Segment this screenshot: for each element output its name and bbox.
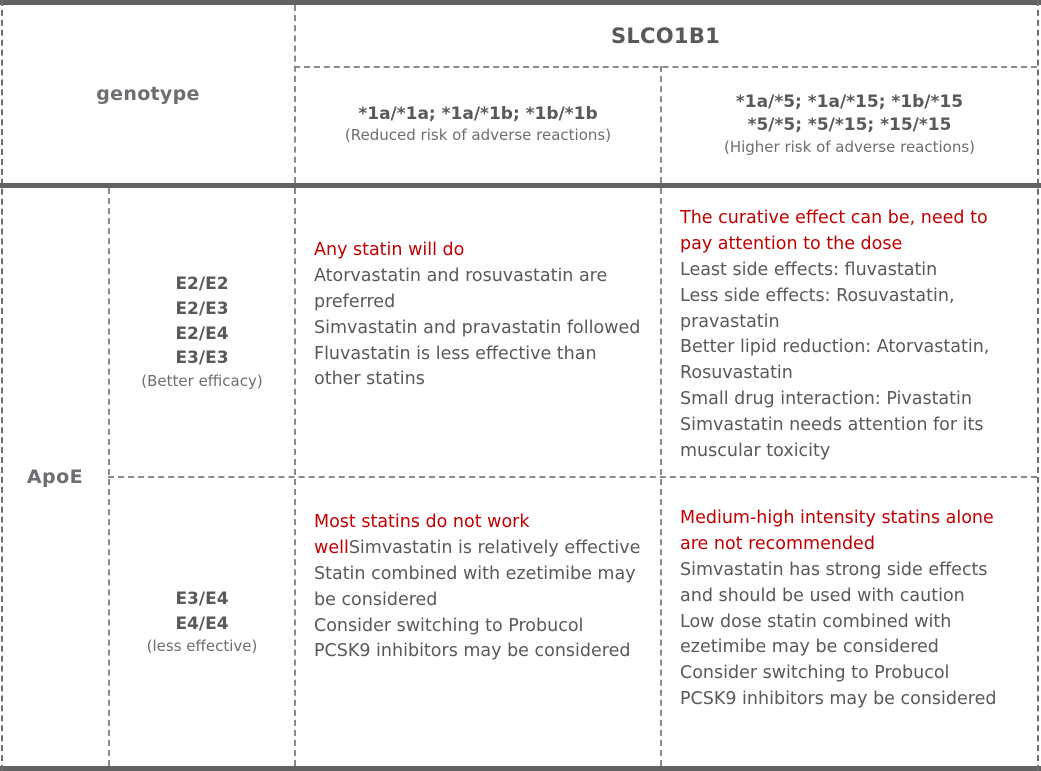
- cell-row2-col-a-headline-run: Most statins do not work wellSimvastatin…: [314, 510, 644, 562]
- column-header-a-note: (Reduced risk of adverse reactions): [345, 125, 611, 146]
- row-header-2-note: (less effective): [147, 636, 258, 657]
- row-header-2-genotype-0: E3/E4: [147, 587, 258, 612]
- cell-row1-col-a-headline: Any statin will do: [314, 238, 644, 264]
- cell-row1-col-b-line-3: Small drug interaction: Pivastatin: [680, 387, 1022, 413]
- cell-row1-col-b-line-1: Less side effects: Rosuvastatin, pravast…: [680, 284, 1022, 336]
- row-header-2: E3/E4 E4/E4 (less effective): [110, 478, 294, 766]
- row-header-1-genotype-3: E3/E3: [141, 346, 262, 371]
- row-header-1-genotype-1: E2/E3: [141, 297, 262, 322]
- column-header-a: *1a/*1a; *1a/*1b; *1b/*1b (Reduced risk …: [296, 66, 660, 183]
- table-right-border: [1037, 0, 1039, 771]
- row-header-1: E2/E2 E2/E3 E2/E4 E3/E3 (Better efficacy…: [110, 188, 294, 476]
- cell-row1-col-b-line-0: Least side effects: fluvastatin: [680, 258, 1022, 284]
- cell-row2-col-b-headline: Medium-high intensity statins alone are …: [680, 506, 1022, 558]
- column-group-header-slco1b1: SLCO1B1: [294, 5, 1037, 66]
- cell-row2-col-b-line-3: PCSK9 inhibitors may be considered: [680, 687, 1022, 713]
- cell-row2-col-b-line-2: Consider switching to Probucol: [680, 661, 1022, 687]
- cell-row1-col-a-line-2: Fluvastatin is less effective than other…: [314, 342, 644, 394]
- column-header-b-alleles-line1: *1a/*5; *1a/*15; *1b/*15: [724, 91, 975, 114]
- column-group-header-label: SLCO1B1: [611, 24, 720, 48]
- cell-row2-col-b-line-0: Simvastatin has strong side effects and …: [680, 558, 1022, 610]
- cell-row2-col-a: Most statins do not work wellSimvastatin…: [296, 494, 658, 766]
- row-axis-label-apoe: ApoE: [2, 188, 108, 766]
- cell-row1-col-b-line-4: Simvastatin needs attention for its musc…: [680, 413, 1022, 465]
- column-header-b-note: (Higher risk of adverse reactions): [724, 137, 975, 158]
- cell-row2-col-a-line-0: Statin combined with ezetimibe may be co…: [314, 562, 644, 614]
- cell-row1-col-a: Any statin will do Atorvastatin and rosu…: [296, 222, 658, 476]
- corner-header-genotype: genotype: [2, 5, 294, 183]
- column-header-a-alleles: *1a/*1a; *1a/*1b; *1b/*1b: [345, 103, 611, 126]
- row-header-1-genotype-0: E2/E2: [141, 272, 262, 297]
- cell-row2-col-a-headline-continuation: Simvastatin is relatively effective: [349, 538, 641, 558]
- cell-row2-col-a-line-1: Consider switching to Probucol: [314, 614, 644, 640]
- cell-row2-col-b-line-1: Low dose statin combined with ezetimibe …: [680, 610, 1022, 662]
- cell-row1-col-b: The curative effect can be, need to pay …: [662, 190, 1036, 476]
- column-header-b-alleles-line2: *5/*5; *5/*15; *15/*15: [724, 114, 975, 137]
- table-bottom-border: [0, 766, 1041, 771]
- corner-header-label: genotype: [96, 83, 199, 105]
- cell-row2-col-a-line-2: PCSK9 inhibitors may be considered: [314, 639, 644, 665]
- cell-row1-col-a-line-0: Atorvastatin and rosuvastatin are prefer…: [314, 264, 644, 316]
- row-header-2-genotype-1: E4/E4: [147, 612, 258, 637]
- row-header-1-genotype-2: E2/E4: [141, 322, 262, 347]
- cell-row1-col-b-line-2: Better lipid reduction: Atorvastatin, Ro…: [680, 335, 1022, 387]
- cell-row1-col-a-line-1: Simvastatin and pravastatin followed: [314, 316, 644, 342]
- cell-row1-col-b-headline: The curative effect can be, need to pay …: [680, 206, 1022, 258]
- row-header-1-note: (Better efficacy): [141, 371, 262, 392]
- column-header-b: *1a/*5; *1a/*15; *1b/*15 *5/*5; *5/*15; …: [662, 66, 1037, 183]
- cell-row2-col-b: Medium-high intensity statins alone are …: [662, 490, 1036, 766]
- genotype-guidance-table: genotype SLCO1B1 *1a/*1a; *1a/*1b; *1b/*…: [0, 0, 1041, 771]
